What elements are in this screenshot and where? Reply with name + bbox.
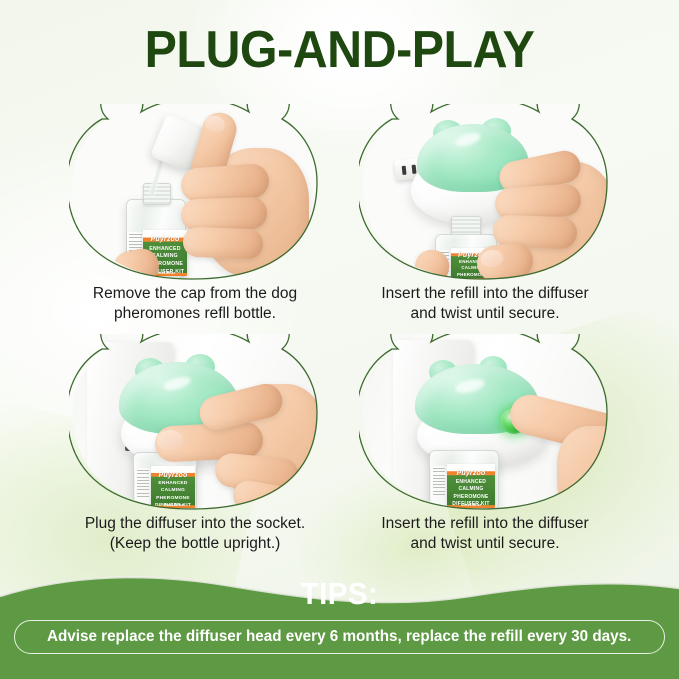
- tips-banner: TIPS: Advise replace the diffuser head e…: [0, 570, 679, 679]
- bear-frame-outline-3: [69, 334, 321, 512]
- bear-frame-outline-2: [359, 104, 611, 282]
- step-card-4: Puyrzoo ENHANCED CALMING PHEROMONE DIFFU…: [340, 334, 630, 566]
- step-card-2: Puyrzoo ENHANCED CALMING PHEROMONE DIFFU…: [340, 104, 630, 336]
- step-4-photo-frame: Puyrzoo ENHANCED CALMING PHEROMONE DIFFU…: [359, 334, 611, 512]
- tips-heading: TIPS:: [17, 578, 662, 609]
- step-1-caption: Remove the cap from the dog pheromones r…: [50, 284, 340, 324]
- tips-pill: Advise replace the diffuser head every 6…: [14, 620, 665, 654]
- step-card-1: Puyrzoo ENHANCED CALMING PHEROMONE DIFFU…: [50, 104, 340, 336]
- steps-grid: Puyrzoo ENHANCED CALMING PHEROMONE DIFFU…: [0, 104, 679, 570]
- step-3-caption: Plug the diffuser into the socket. (Keep…: [50, 514, 340, 554]
- step-3-photo-frame: Puyrzoo ENHANCED CALMING PHEROMONE DIFFU…: [69, 334, 321, 512]
- bear-frame-outline-1: [69, 104, 321, 282]
- bear-frame-outline-4: [359, 334, 611, 512]
- tips-body-text: Advise replace the diffuser head every 6…: [47, 628, 631, 646]
- step-2-photo-frame: Puyrzoo ENHANCED CALMING PHEROMONE DIFFU…: [359, 104, 611, 282]
- step-4-caption: Insert the refill into the diffuser and …: [340, 514, 630, 554]
- step-card-3: Puyrzoo ENHANCED CALMING PHEROMONE DIFFU…: [50, 334, 340, 566]
- step-1-photo-frame: Puyrzoo ENHANCED CALMING PHEROMONE DIFFU…: [69, 104, 321, 282]
- page-title: PLUG-AND-PLAY: [24, 24, 655, 76]
- step-2-caption: Insert the refill into the diffuser and …: [340, 284, 630, 324]
- infographic-page: PLUG-AND-PLAY: [0, 0, 679, 679]
